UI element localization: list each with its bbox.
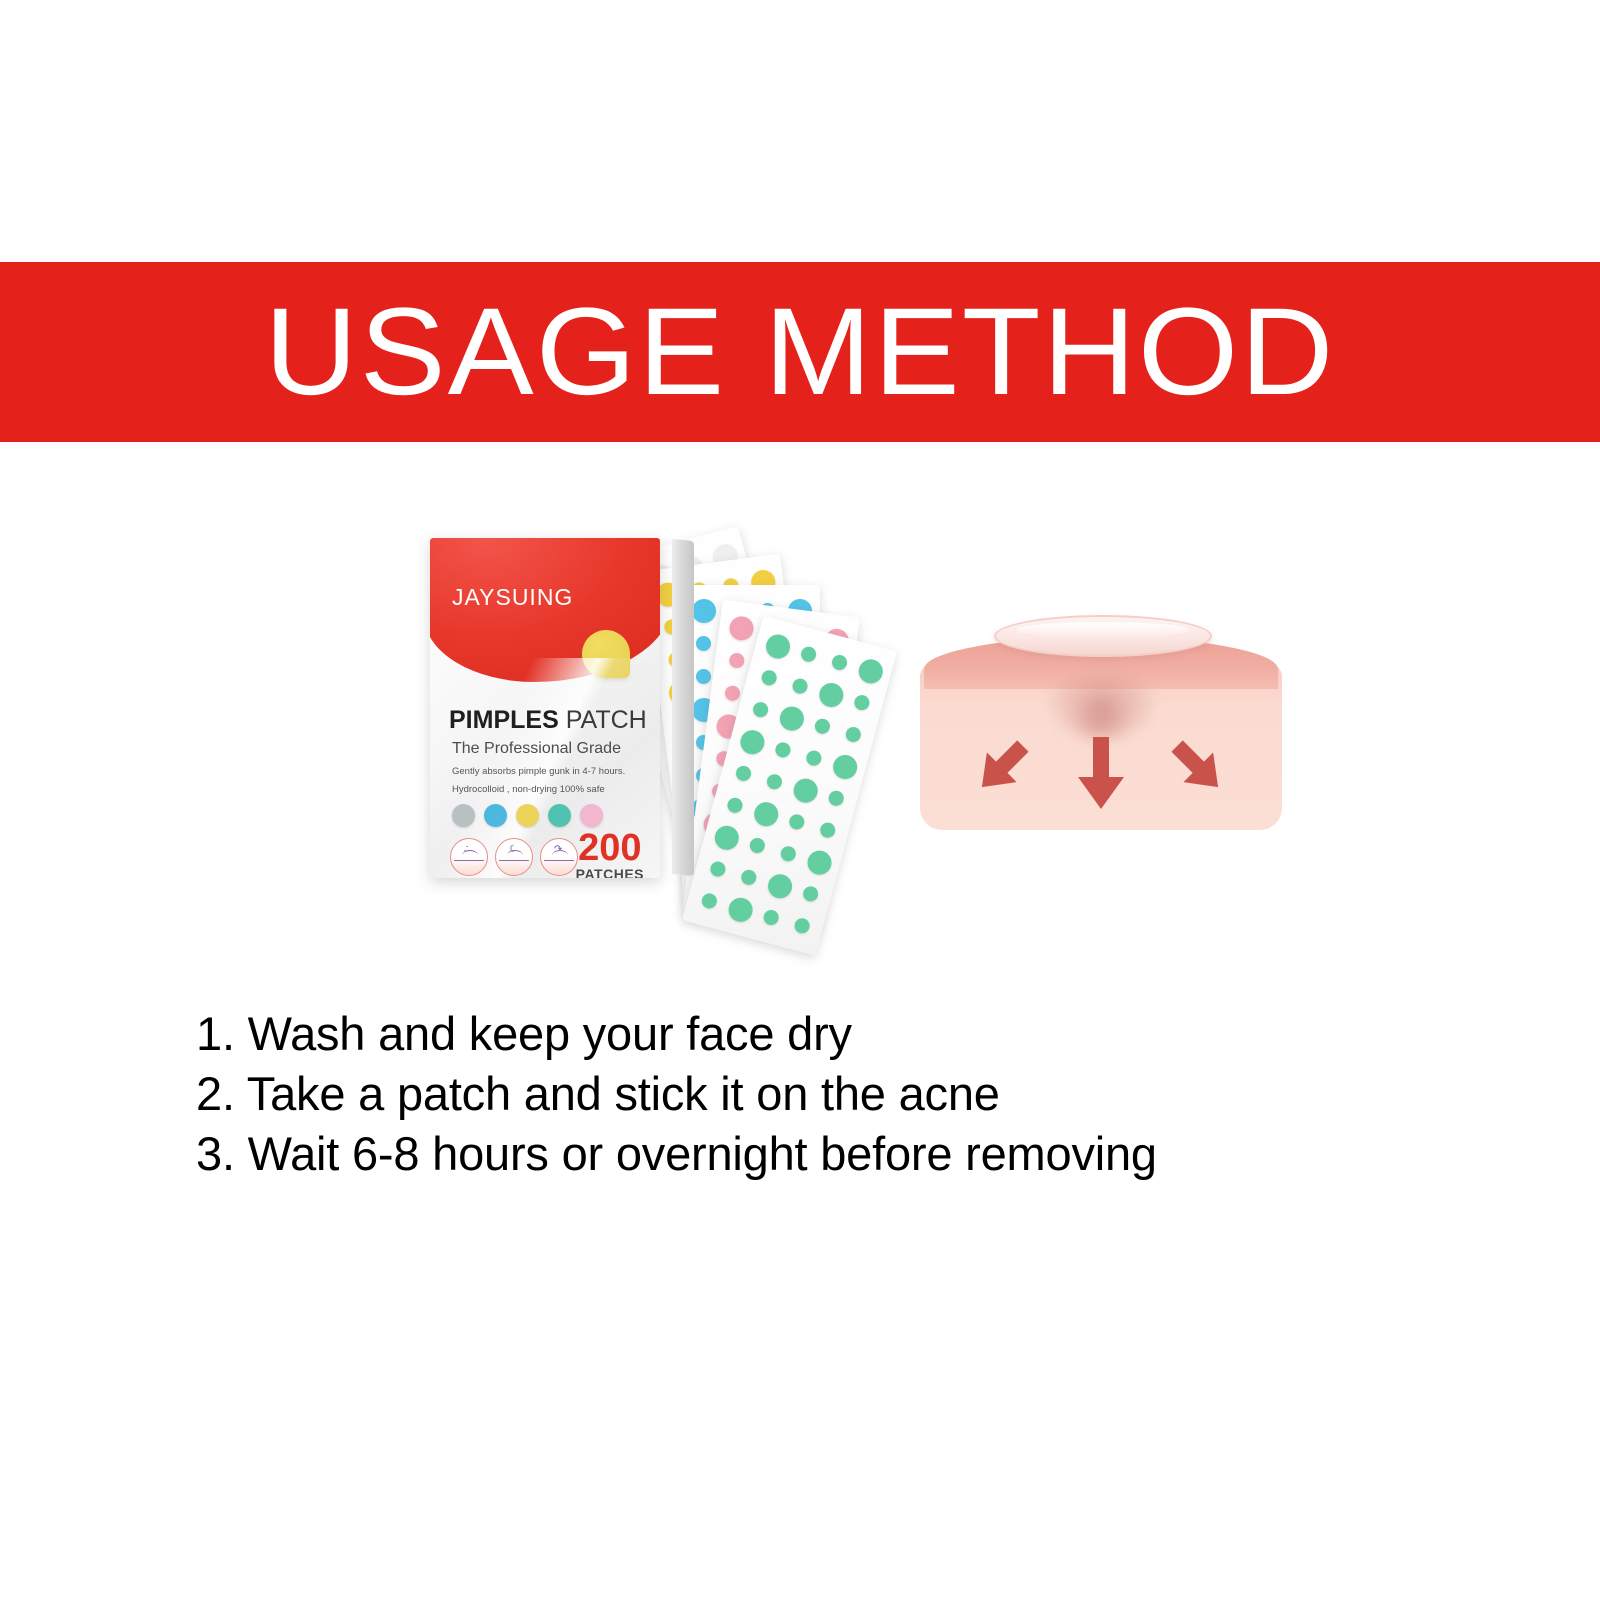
stage-icon-day: ∴: [450, 838, 488, 876]
patch-dot: [760, 669, 778, 687]
patch-sheet-stack: [660, 505, 920, 905]
color-swatches: [452, 804, 603, 827]
patch-dot: [856, 657, 885, 686]
patch-dot: [709, 860, 727, 878]
product-name: PIMPLES PATCH: [449, 706, 647, 735]
brand-part-1: JAY: [452, 584, 495, 610]
product-subtitle: The Professional Grade: [452, 740, 621, 758]
patch-dot: [779, 845, 797, 863]
patch-dot: [728, 615, 755, 642]
product-imagery: JAYSUING PIMPLES PATCH The Professional …: [0, 460, 1600, 960]
patch-dot: [799, 645, 817, 663]
color-swatch-4: [580, 804, 603, 827]
product-feature-line-1: Gently absorbs pimple gunk in 4-7 hours.: [452, 766, 625, 777]
product-feature-line-2: Hydrocolloid , non-drying 100% safe: [452, 784, 605, 795]
patch-dot: [830, 653, 848, 671]
product-box: JAYSUING PIMPLES PATCH The Professional …: [430, 528, 680, 888]
color-swatch-0: [452, 804, 475, 827]
product-name-bold: PIMPLES: [449, 706, 559, 734]
patch-dot: [740, 868, 758, 886]
patch-count-number: 200: [576, 830, 644, 866]
patch-dot: [853, 693, 871, 711]
arrow-down-left-icon: [966, 733, 1036, 803]
patch-dot: [805, 749, 823, 767]
patch-dot: [844, 725, 862, 743]
arrow-down-right-icon: [1164, 733, 1234, 803]
page-root: USAGE METHOD JAYSUING PIMPLES PATCH The …: [0, 0, 1600, 1600]
brand-logo: JAYSUING: [452, 584, 573, 611]
box-spine: [672, 539, 694, 876]
patch-dot: [788, 813, 806, 831]
stage-icon-night: ☾: [495, 838, 533, 876]
box-front-face: JAYSUING PIMPLES PATCH The Professional …: [430, 538, 660, 878]
patch-dot: [692, 599, 716, 623]
patch-dot: [700, 892, 718, 910]
patch-dot: [696, 669, 711, 684]
stage-icons: ∴ ☾ ↷: [450, 838, 578, 876]
patch-dot: [728, 652, 745, 669]
patch-dot: [762, 908, 780, 926]
moon-icon: ☾: [509, 844, 518, 855]
patch-dot: [813, 717, 831, 735]
applied-patch-icon: [994, 615, 1212, 657]
patch-dot: [805, 848, 834, 877]
patch-dot: [738, 727, 767, 756]
peel-arrow-icon: ↷: [554, 844, 562, 855]
stage-icon-removal: ↷: [540, 838, 578, 876]
product-name-light: PATCH: [559, 706, 647, 734]
patch-dot: [791, 677, 809, 695]
color-swatch-1: [484, 804, 507, 827]
patch-dot: [752, 800, 781, 829]
skin-cross-section-diagram: [920, 615, 1282, 830]
patch-dot: [724, 685, 741, 702]
color-swatch-2: [516, 804, 539, 827]
patch-dot: [726, 895, 755, 924]
patch-dot: [712, 823, 741, 852]
patch-dot: [734, 764, 752, 782]
patch-dot: [765, 872, 794, 901]
instruction-step: 1. Wash and keep your face dry: [196, 1004, 1396, 1064]
patch-dot: [801, 885, 819, 903]
patch-dot: [817, 680, 846, 709]
color-swatch-3: [548, 804, 571, 827]
patch-dot: [748, 836, 766, 854]
patch-dot: [765, 773, 783, 791]
patch-dot: [726, 796, 744, 814]
instruction-list: 1. Wash and keep your face dry 2. Take a…: [196, 1004, 1396, 1184]
patch-dot: [774, 741, 792, 759]
patch-dot: [696, 636, 711, 651]
patch-count: 200 PATCHES: [576, 830, 644, 878]
patch-dot: [819, 821, 837, 839]
patch-count-label: PATCHES: [576, 866, 644, 878]
patch-dot: [793, 917, 811, 935]
instruction-step: 2. Take a patch and stick it on the acne: [196, 1064, 1396, 1124]
patch-dot: [827, 789, 845, 807]
sparkle-icon: ∴: [464, 844, 470, 855]
page-title: USAGE METHOD: [264, 290, 1335, 414]
yellow-patch-graphic: [582, 630, 630, 678]
patch-dot: [777, 704, 806, 733]
arrow-down-icon: [1066, 735, 1136, 815]
instruction-step: 3. Wait 6-8 hours or overnight before re…: [196, 1124, 1396, 1184]
patch-dot: [791, 776, 820, 805]
patch-dot: [751, 700, 769, 718]
usage-method-banner: USAGE METHOD: [0, 262, 1600, 442]
patch-dot: [763, 632, 792, 661]
brand-part-2: SUING: [495, 584, 573, 610]
patch-dot: [830, 752, 859, 781]
